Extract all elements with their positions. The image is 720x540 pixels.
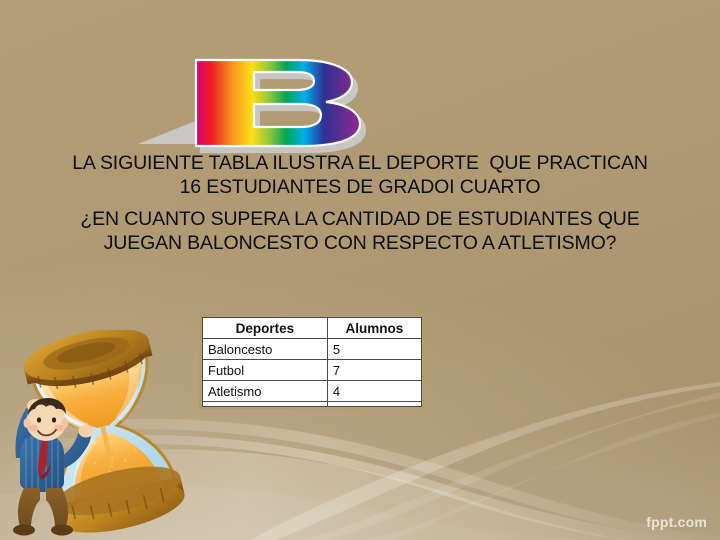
column-header-alumnos: Alumnos — [327, 318, 421, 339]
title-text-block: LA SIGUIENTE TABLA ILUSTRA EL DEPORTE QU… — [34, 152, 686, 255]
title-paragraph-1: LA SIGUIENTE TABLA ILUSTRA EL DEPORTE QU… — [34, 152, 686, 199]
cell-students: 5 — [327, 339, 421, 360]
sports-data-table: Deportes Alumnos Baloncesto 5 Futbol 7 A… — [202, 317, 422, 407]
title-line-1: LA SIGUIENTE TABLA ILUSTRA EL DEPORTE QU… — [72, 152, 648, 174]
cell-empty — [203, 402, 328, 407]
rainbow-b-icon — [194, 58, 384, 148]
title-line-3: ¿EN CUANTO SUPERA LA CANTIDAD DE ESTUDIA… — [80, 208, 639, 230]
cell-sport: Futbol — [203, 360, 328, 381]
cell-students: 7 — [327, 360, 421, 381]
table-row: Futbol 7 — [203, 360, 422, 381]
table-row: Baloncesto 5 — [203, 339, 422, 360]
cell-empty — [327, 402, 421, 407]
table-row: Atletismo 4 — [203, 381, 422, 402]
title-paragraph-2: ¿EN CUANTO SUPERA LA CANTIDAD DE ESTUDIA… — [34, 208, 686, 255]
cell-students: 4 — [327, 381, 421, 402]
logo-block — [138, 58, 384, 160]
data-table-frame: Deportes Alumnos Baloncesto 5 Futbol 7 A… — [199, 314, 425, 409]
cell-sport: Atletismo — [203, 381, 328, 402]
fppt-watermark: fppt.com — [646, 514, 707, 530]
cell-sport: Baloncesto — [203, 339, 328, 360]
table-row-partial — [203, 402, 422, 407]
man-holding-hourglass-illustration — [0, 330, 218, 540]
title-line-2: 16 ESTUDIANTES DE GRADOI CUARTO — [180, 176, 541, 198]
title-line-4: JUEGAN BALONCESTO CON RESPECTO A ATLETIS… — [104, 232, 617, 254]
column-header-deportes: Deportes — [203, 318, 328, 339]
table-header-row: Deportes Alumnos — [203, 318, 422, 339]
slide-canvas: LA SIGUIENTE TABLA ILUSTRA EL DEPORTE QU… — [0, 0, 720, 540]
